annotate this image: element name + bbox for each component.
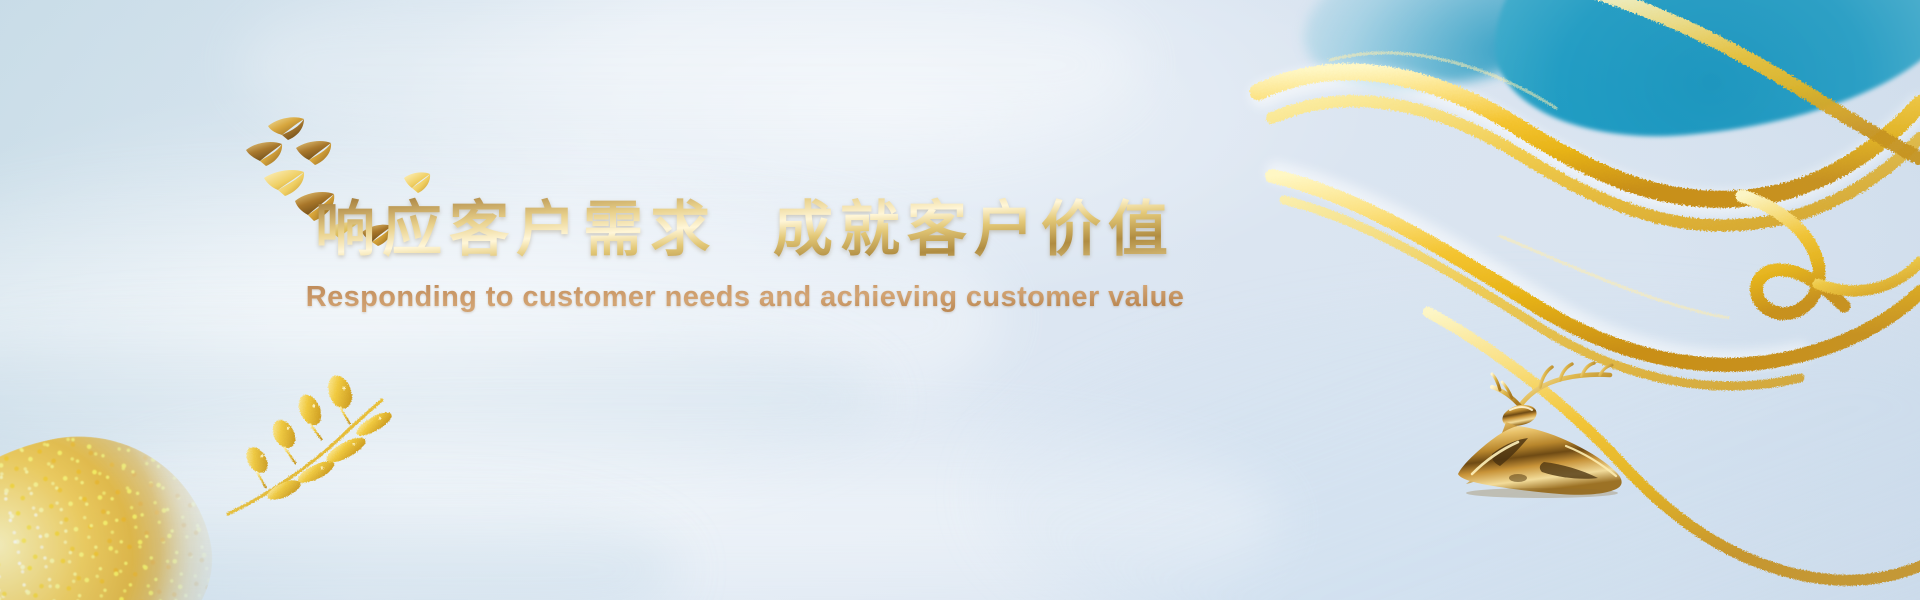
page-title: 响应客户需求 成就客户价值: [0, 196, 1490, 265]
teal-marble-pool: [1480, 0, 1920, 154]
banner-text-block: 响应客户需求 成就客户价值 Responding to customer nee…: [0, 196, 1490, 314]
hero-banner: 响应客户需求 成就客户价值 Responding to customer nee…: [0, 0, 1920, 600]
gold-leaf-branch: [222, 368, 422, 528]
page-subtitle: Responding to customer needs and achievi…: [0, 281, 1490, 314]
gold-glitter-corner: [0, 411, 231, 600]
golden-deer-sculpture: [1448, 358, 1634, 500]
